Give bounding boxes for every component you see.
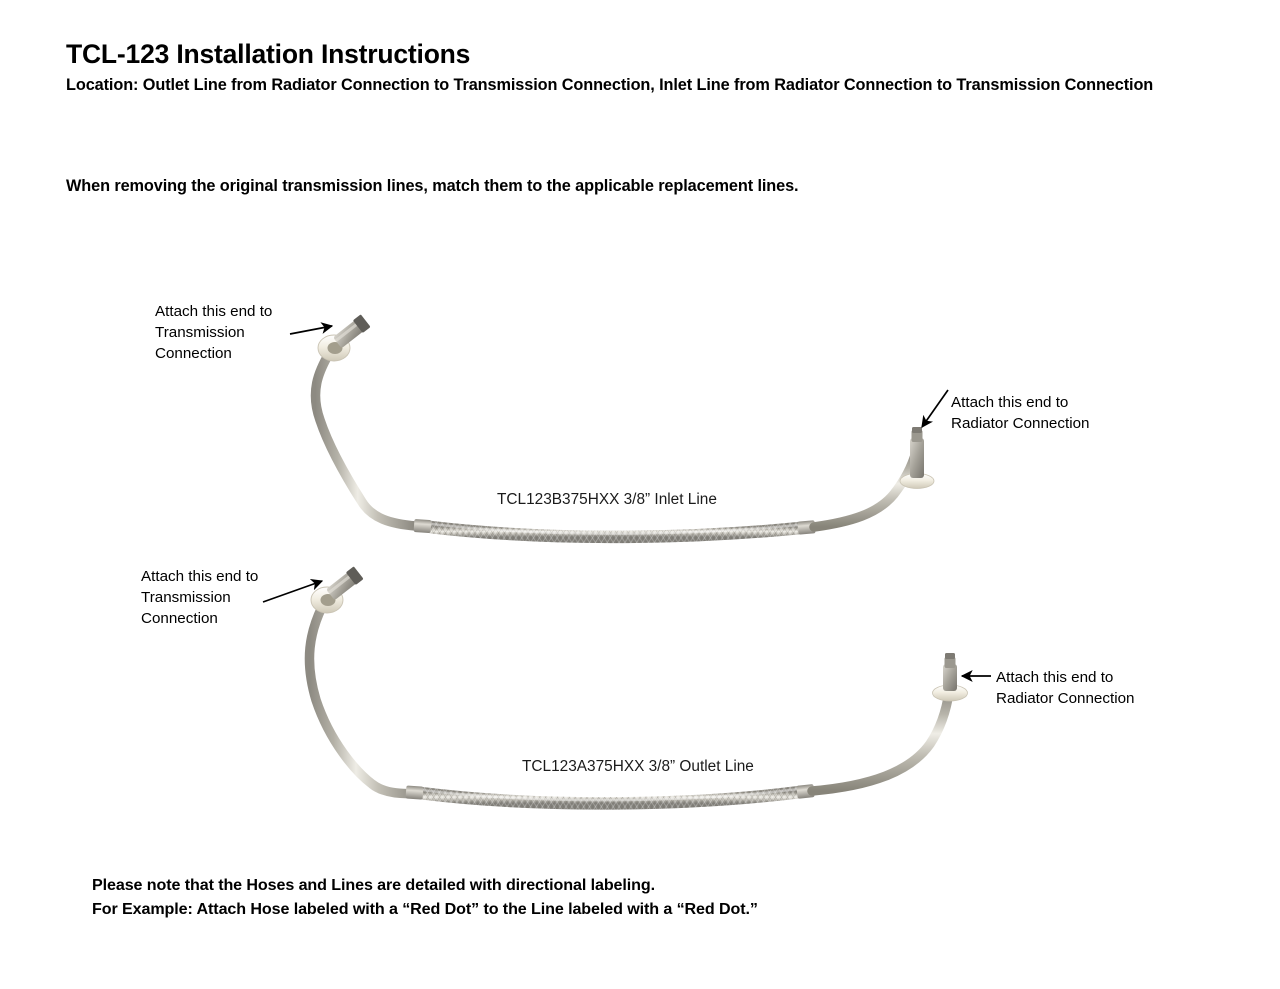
inlet-transmission-fitting — [318, 314, 371, 361]
part-label-outlet-line: TCL123A375HXX 3/8” Outlet Line — [522, 758, 754, 776]
footer-note: Please note that the Hoses and Lines are… — [92, 873, 1142, 922]
footer-line-1: Please note that the Hoses and Lines are… — [92, 873, 1142, 897]
inlet-radiator-arrow — [922, 390, 948, 427]
callout-line: Attach this end to — [141, 567, 258, 588]
outlet-ferrule-left — [406, 785, 424, 799]
outlet-braided-hose — [420, 789, 800, 804]
callout-line: Radiator Connection — [951, 414, 1089, 435]
callout-line: Attach this end to — [951, 393, 1089, 414]
outlet-tube-left — [309, 607, 420, 794]
outlet-transmission-fitting — [311, 566, 364, 613]
callout-line: Connection — [141, 609, 258, 630]
callout-inlet-transmission: Attach this end to Transmission Connecti… — [155, 302, 272, 365]
callout-line: Attach this end to — [155, 302, 272, 323]
inlet-transmission-arrow — [290, 326, 332, 334]
callout-line: Attach this end to — [996, 668, 1134, 689]
callout-inlet-radiator: Attach this end to Radiator Connection — [951, 393, 1089, 435]
callout-line: Transmission — [141, 588, 258, 609]
callout-outlet-transmission: Attach this end to Transmission Connecti… — [141, 567, 258, 630]
inlet-tube-right — [814, 452, 916, 527]
footer-line-2: For Example: Attach Hose labeled with a … — [92, 897, 1142, 921]
callout-outlet-radiator: Attach this end to Radiator Connection — [996, 668, 1134, 710]
inlet-tube-left — [315, 352, 416, 526]
part-label-inlet-line: TCL123B375HXX 3/8” Inlet Line — [497, 491, 717, 509]
inlet-braided-hose — [430, 524, 800, 537]
callout-line: Connection — [155, 344, 272, 365]
callout-line: Radiator Connection — [996, 689, 1134, 710]
inlet-ferrule-left — [414, 519, 432, 533]
outlet-radiator-fitting — [933, 653, 968, 701]
callout-line: Transmission — [155, 323, 272, 344]
inlet-radiator-fitting — [900, 427, 934, 489]
outlet-tube-right — [812, 692, 949, 791]
